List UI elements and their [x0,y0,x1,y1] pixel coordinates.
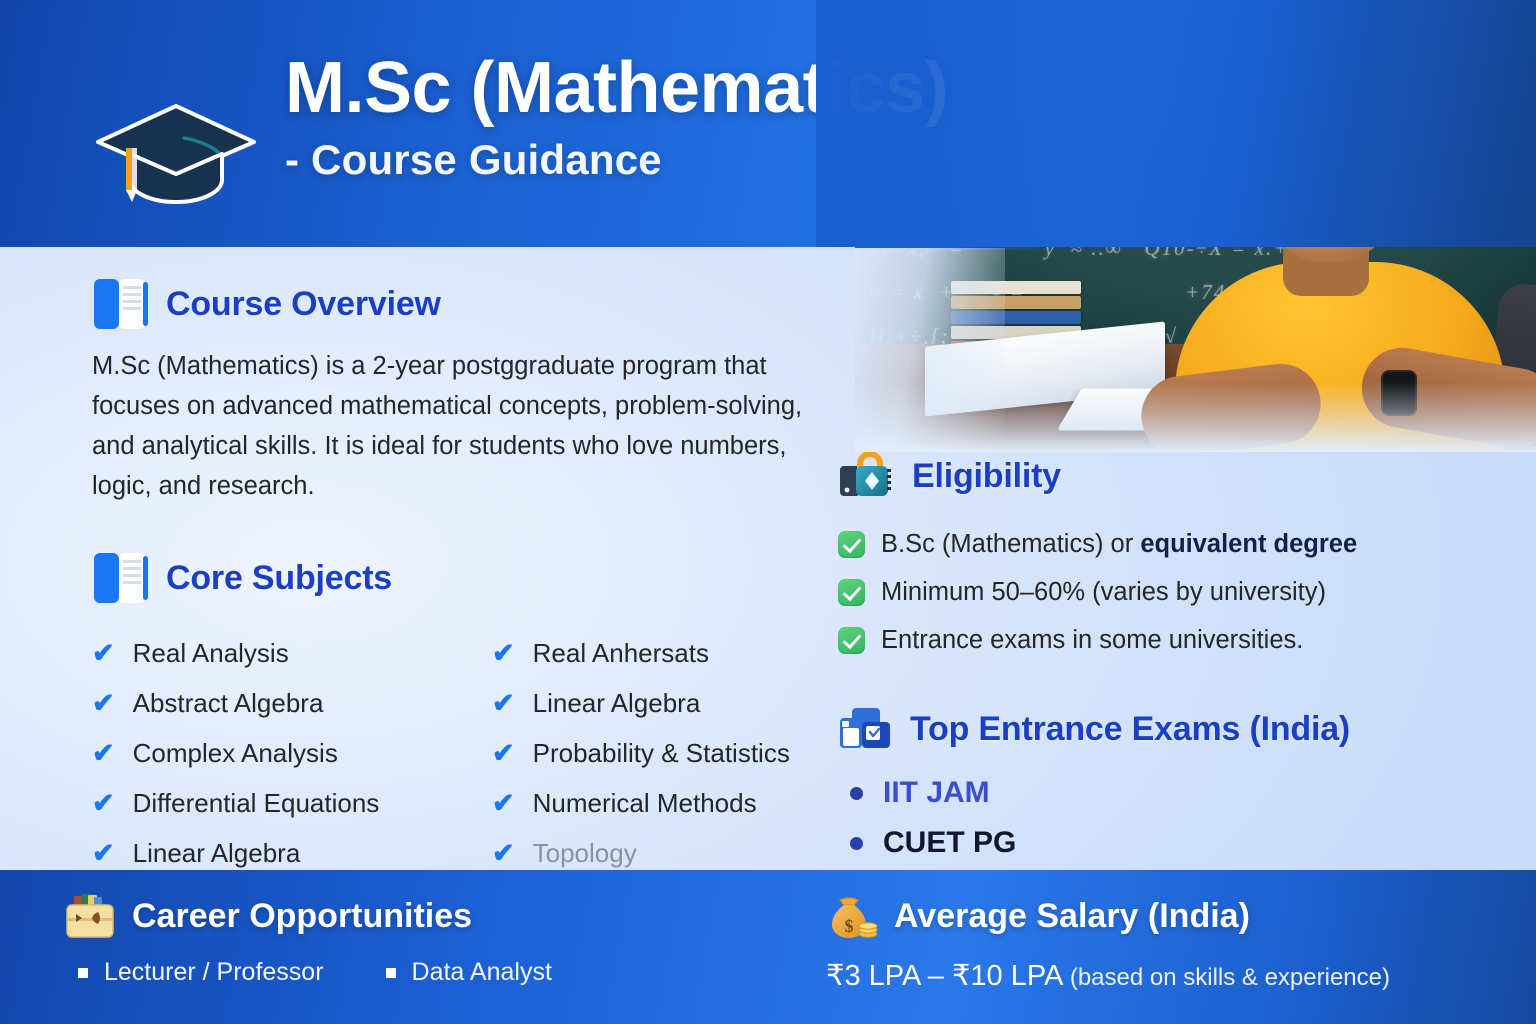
careers-heading: Career Opportunities [132,897,472,936]
check-icon: ✔ [92,740,115,767]
list-item: ✔Real Anhersats [492,628,852,678]
list-item: CUET PG [850,818,1528,868]
entrance-exams-list: IIT JAM CUET PG [838,768,1528,868]
folder-file-icon [838,706,894,752]
list-item: Data Analyst [386,958,552,987]
core-subjects-header: Core Subjects [92,550,852,606]
core-subjects-heading: Core Subjects [166,559,392,598]
subject-label: Linear Algebra [133,838,301,869]
course-overview-text: M.Sc (Mathematics) is a 2-year postggrad… [92,346,822,506]
card-index-box-icon [64,892,116,940]
salary-header: $ Average Salary (India) [826,892,1506,940]
course-overview-header: Course Overview [92,276,852,332]
open-book-icon [92,276,150,332]
svg-text:$: $ [845,916,854,936]
career-label: Lecturer / Professor [104,958,324,987]
list-item: ✔Differential Equations [92,778,492,828]
page-subtitle: - Course Guidance [285,136,948,184]
entrance-exams-heading: Top Entrance Exams (India) [910,710,1350,749]
infographic-poster: 6ac² n(, c² ² b;δ² ≈ -. y=c²lo -. b (y-x… [0,0,1536,1024]
entrance-exams-header: Top Entrance Exams (India) [838,706,1528,752]
list-item: ✔Numerical Methods [492,778,852,828]
check-icon: ✔ [92,640,115,667]
subject-label: Complex Analysis [133,738,338,769]
eligibility-header: Eligibility [838,452,1528,500]
core-subjects-grid: ✔Real Analysis ✔Real Anhersats ✔Abstract… [92,628,852,878]
lock-badge-icon [838,452,896,500]
eligibility-text: B.Sc (Mathematics) or [881,530,1140,558]
career-label: Data Analyst [412,958,552,987]
salary-note: (based on skills & experience) [1070,964,1390,991]
careers-list: Lecturer / Professor Data Analyst [64,958,804,987]
subject-label: Numerical Methods [533,788,757,819]
careers-section: Career Opportunities Lecturer / Professo… [64,892,804,987]
dot-icon [850,837,863,850]
bottom-band: Career Opportunities Lecturer / Professo… [0,870,1536,1024]
check-icon: ✔ [92,690,115,717]
green-check-box-icon [838,579,865,606]
check-icon: ✔ [492,690,515,717]
subject-label: Linear Algebra [533,688,701,719]
eligibility-text-bold: equivalent degree [1140,530,1357,558]
square-bullet-icon [386,968,396,978]
list-item: IIT JAM [850,768,1528,818]
green-check-box-icon [838,531,865,558]
check-icon: ✔ [492,740,515,767]
page-title: M.Sc (Mathematics) [285,50,948,128]
open-book-icon [92,550,150,606]
list-item: Minimum 50–60% (varies by university) [838,568,1528,616]
eligibility-heading: Eligibility [912,457,1061,496]
check-icon: ✔ [492,640,515,667]
salary-value: ₹3 LPA – ₹10 LPA (based on skills & expe… [826,958,1506,993]
graduation-cap-icon [92,96,260,208]
check-icon: ✔ [92,840,115,867]
square-bullet-icon [78,968,88,978]
careers-header: Career Opportunities [64,892,804,940]
green-check-box-icon [838,627,865,654]
title-block: M.Sc (Mathematics) - Course Guidance [285,50,948,184]
salary-range: ₹3 LPA – ₹10 LPA [826,960,1070,992]
list-item: ✔Linear Algebra [492,678,852,728]
check-icon: ✔ [492,790,515,817]
check-icon: ✔ [92,790,115,817]
left-column: Course Overview M.Sc (Mathematics) is a … [92,276,852,878]
subject-label: Differential Equations [133,788,380,819]
exam-label: IIT JAM [883,776,990,810]
list-item: ✔Complex Analysis [92,728,492,778]
eligibility-list: B.Sc (Mathematics) or equivalent degree … [838,520,1528,664]
header-banner: M.Sc (Mathematics) - Course Guidance [0,0,1536,247]
dot-icon [850,787,863,800]
course-overview-heading: Course Overview [166,285,441,324]
list-item: ✔Real Analysis [92,628,492,678]
photo-bottom-fade [855,382,1536,452]
list-item: Entrance exams in some universities. [838,616,1528,664]
list-item: ✔Probability & Statistics [492,728,852,778]
subject-label: Abstract Algebra [133,688,324,719]
money-bag-icon: $ [826,892,878,940]
salary-section: $ Average Salary (India) ₹3 LPA – ₹10 LP… [826,892,1506,993]
exam-label: CUET PG [883,826,1016,860]
eligibility-text-tail: . [1296,626,1303,654]
subject-label: Topology [533,838,637,869]
list-item: ✔Abstract Algebra [92,678,492,728]
subject-label: Real Analysis [133,638,289,669]
check-icon: ✔ [492,840,515,867]
list-item: Lecturer / Professor [78,958,324,987]
right-column: Eligibility B.Sc (Mathematics) or equiva… [838,452,1528,868]
salary-heading: Average Salary (India) [894,897,1250,936]
eligibility-text: Minimum 50–60% (varies by university) [881,578,1326,607]
subject-label: Real Anhersats [533,638,709,669]
list-item: B.Sc (Mathematics) or equivalent degree [838,520,1528,568]
eligibility-text: Entrance exams in some universities [881,626,1296,654]
subject-label: Probability & Statistics [533,738,790,769]
